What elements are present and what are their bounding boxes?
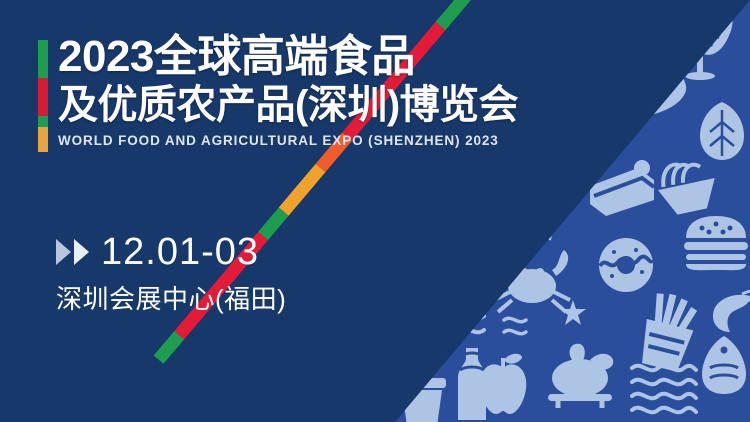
starfish-icon [560, 300, 586, 326]
headline-block: 2023全球高端食品 及优质农产品(深圳)博览会 WORLD FOOD AND … [58, 32, 558, 150]
event-info-block: 12.01-03 深圳会展中心(福田) [56, 232, 286, 314]
corn-icon [497, 143, 590, 250]
accent-bar-segment [38, 116, 48, 127]
accent-bar-segment [38, 78, 48, 116]
soda-cup-icon [392, 360, 452, 422]
event-date: 12.01-03 [101, 232, 259, 272]
shrimp-icon [706, 290, 750, 336]
expo-poster: 2023全球高端食品 及优质农产品(深圳)博览会 WORLD FOOD AND … [0, 0, 750, 422]
hamburger-icon [682, 214, 750, 272]
play-arrow-icon [74, 239, 89, 265]
wave-lines-icon [424, 292, 490, 338]
ice-cream-cone-icon [593, 88, 653, 158]
water-wave-icon [628, 360, 700, 416]
play-arrow-icon [56, 239, 71, 265]
accent-bar-segment [38, 40, 48, 78]
bread-loaf-icon [680, 0, 747, 66]
stripe-segment [436, 0, 472, 30]
event-date-row: 12.01-03 [56, 232, 286, 272]
fish-icon [696, 334, 750, 396]
headline-line-2: 及优质农产品(深圳)博览会 [58, 82, 558, 129]
accent-bar-segment [38, 127, 48, 152]
stripe-segment [279, 164, 326, 216]
headline-english-subtitle: WORLD FOOD AND AGRICULTURAL EXPO (SHENZH… [58, 132, 558, 150]
vertical-accent-bar [38, 40, 48, 152]
arrow-group [56, 239, 89, 265]
canned-food-icon [606, 44, 694, 125]
roast-chicken-icon [538, 340, 622, 412]
donut-icon [596, 236, 656, 294]
event-venue: 深圳会展中心(福田) [56, 284, 286, 314]
stripe-segment [154, 331, 185, 364]
headline-line-1: 2023全球高端食品 [58, 32, 558, 82]
bottle-icon [448, 346, 496, 422]
